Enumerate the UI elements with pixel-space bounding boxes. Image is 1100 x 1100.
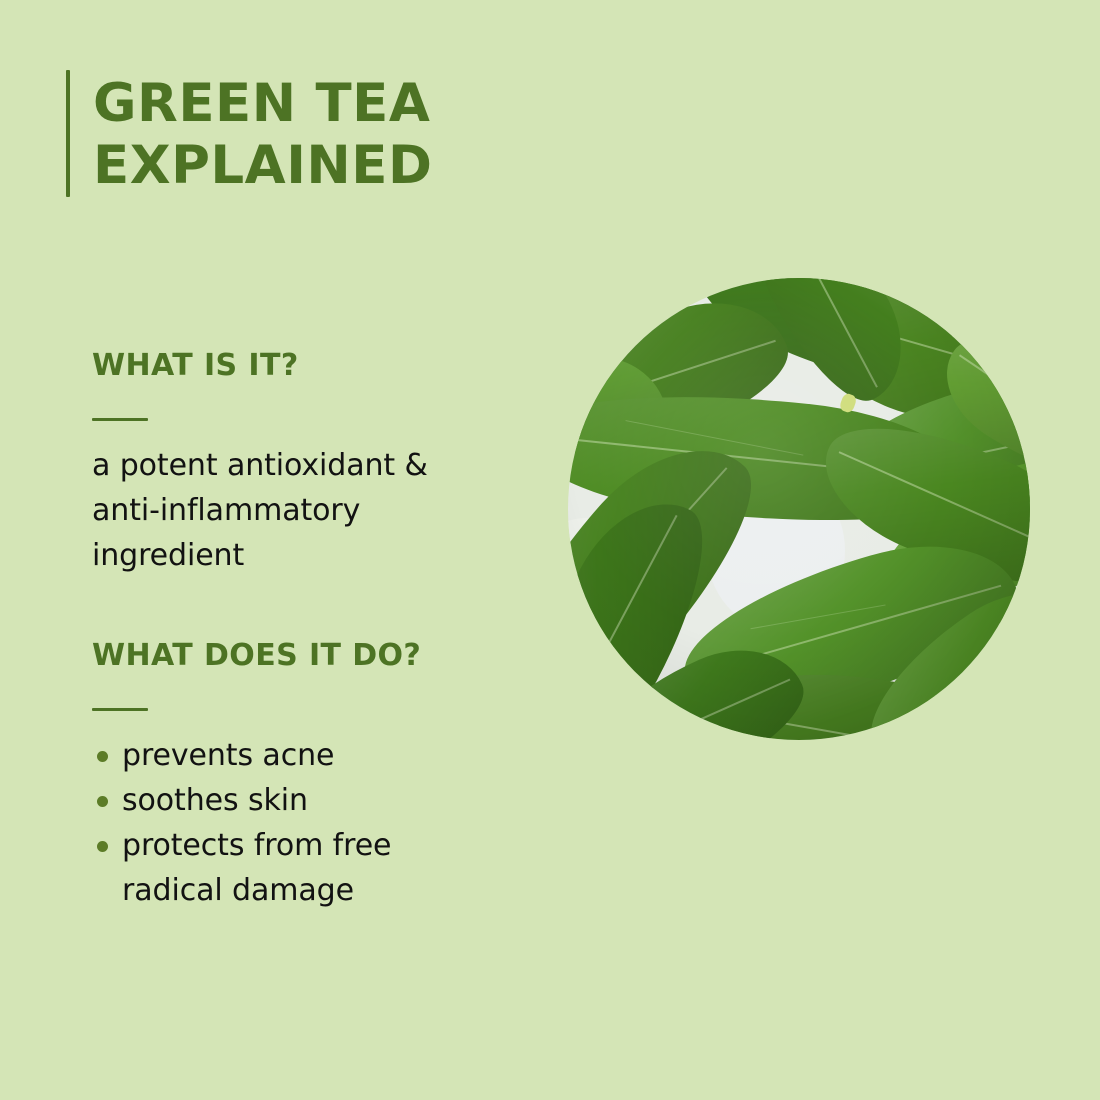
page-title: GREEN TEA EXPLAINED [66,70,432,197]
list-item-line: prevents acne [122,733,522,778]
section-body-what-is-it: a potent antioxidant & anti-inflammatory… [92,443,522,578]
bullet-dot-icon [97,796,108,807]
list-item-line: protects from free [122,823,522,868]
info-content: WHAT IS IT? a potent antioxidant & anti-… [92,348,522,913]
title-text: GREEN TEA EXPLAINED [93,70,432,197]
title-accent-bar [66,70,70,197]
section-what-does-it-do: WHAT DOES IT DO? prevents acne soothes s… [92,638,522,913]
benefits-list: prevents acne soothes skin protects from… [92,733,522,913]
list-item-line: soothes skin [122,778,522,823]
section-what-is-it: WHAT IS IT? a potent antioxidant & anti-… [92,348,522,578]
list-item: soothes skin [92,778,522,823]
list-item: protects from free radical damage [92,823,522,913]
section-rule [92,418,148,421]
list-item-line: radical damage [122,868,522,913]
title-line-2: EXPLAINED [93,135,432,197]
body-line: anti-inflammatory [92,488,522,533]
bullet-dot-icon [97,751,108,762]
green-tea-infographic: { "theme": { "background": "#d4e5b6", "h… [0,0,1100,1100]
section-rule [92,708,148,711]
bullet-dot-icon [97,841,108,852]
green-tea-leaves-photo [568,278,1030,740]
body-line: ingredient [92,533,522,578]
body-line: a potent antioxidant & [92,443,522,488]
section-heading-what-is-it: WHAT IS IT? [92,348,522,384]
title-line-1: GREEN TEA [93,73,432,135]
section-heading-what-does-it-do: WHAT DOES IT DO? [92,638,522,674]
list-item: prevents acne [92,733,522,778]
leaf-composition [568,278,1030,740]
photo-vignette [568,278,1030,740]
